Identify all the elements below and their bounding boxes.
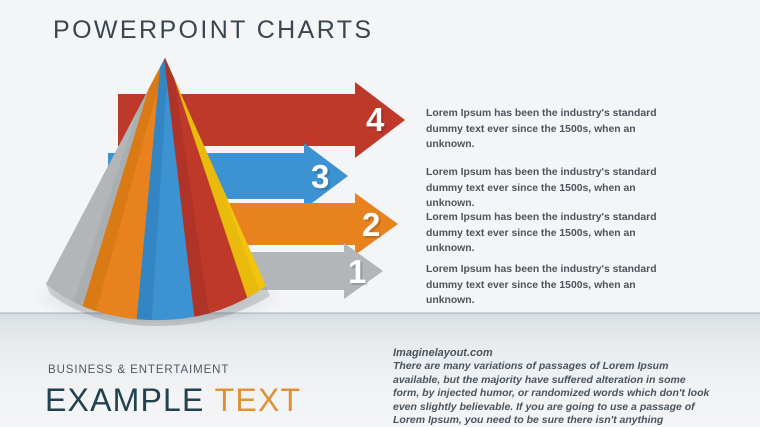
description-4: Lorem Ipsum has been the industry's stan… bbox=[426, 106, 678, 153]
headline-accent: TEXT bbox=[215, 382, 302, 418]
arrow-1-bar bbox=[92, 252, 344, 290]
description-2: Lorem Ipsum has been the industry's stan… bbox=[426, 210, 678, 257]
footer-brand: Imaginelayout.com bbox=[393, 347, 713, 359]
arrow-2-number: 2 bbox=[362, 208, 380, 241]
arrow-2[interactable]: 2 bbox=[100, 203, 390, 245]
arrow-1-number: 1 bbox=[348, 255, 366, 288]
arrow-3-number: 3 bbox=[311, 160, 329, 193]
arrow-1[interactable]: 1 bbox=[92, 252, 382, 290]
arrow-4-number: 4 bbox=[366, 103, 384, 136]
description-3: Lorem Ipsum has been the industry's stan… bbox=[426, 165, 678, 212]
description-1: Lorem Ipsum has been the industry's stan… bbox=[426, 262, 678, 309]
page-title: POWERPOINT CHARTS bbox=[53, 16, 373, 45]
footer-text-block: Imaginelayout.com There are many variati… bbox=[393, 347, 713, 427]
presentation-slide: POWERPOINT CHARTS bbox=[0, 0, 760, 427]
arrow-4[interactable]: 4 bbox=[118, 94, 408, 146]
eyebrow-label: BUSINESS & ENTERTAIMENT bbox=[48, 364, 229, 376]
arrow-3-bar bbox=[108, 153, 304, 199]
arrow-4-bar bbox=[118, 94, 355, 146]
headline: EXAMPLE TEXT bbox=[45, 382, 301, 419]
footer-body: There are many variations of passages of… bbox=[393, 360, 713, 427]
headline-primary: EXAMPLE bbox=[45, 382, 205, 418]
arrow-2-bar bbox=[100, 203, 355, 245]
